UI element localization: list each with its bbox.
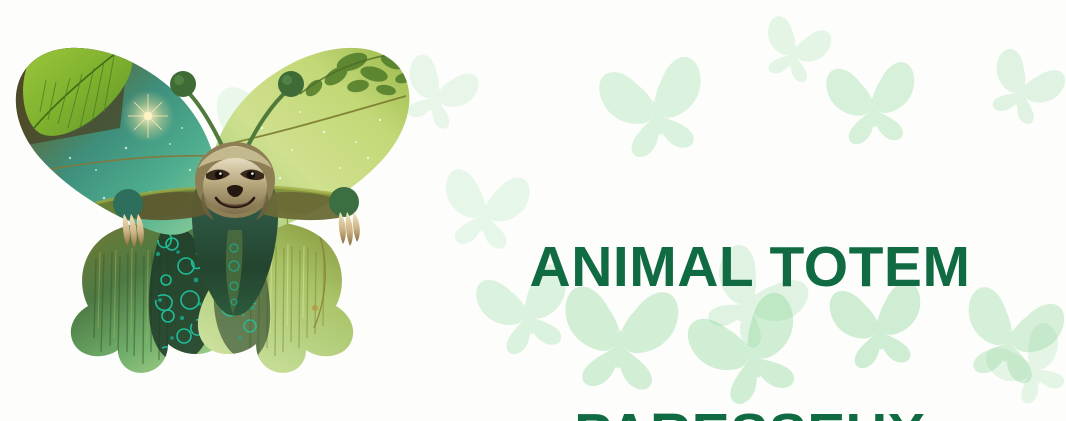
sloth-butterfly-artwork [0, 8, 485, 408]
claws-right [339, 212, 360, 246]
page-title: ANIMAL TOTEM PARESSEUX [460, 128, 1040, 421]
bg-butterfly-4 [975, 42, 1066, 135]
claws-left [123, 214, 144, 248]
headline-line-2: PARESSEUX [460, 407, 1040, 421]
hero-banner: ANIMAL TOTEM PARESSEUX [0, 0, 1066, 421]
antenna-bulb-left [170, 71, 196, 97]
antenna-bulb-right [278, 71, 304, 97]
bg-butterfly-2 [752, 11, 837, 90]
headline-line-1: ANIMAL TOTEM [460, 240, 1040, 296]
